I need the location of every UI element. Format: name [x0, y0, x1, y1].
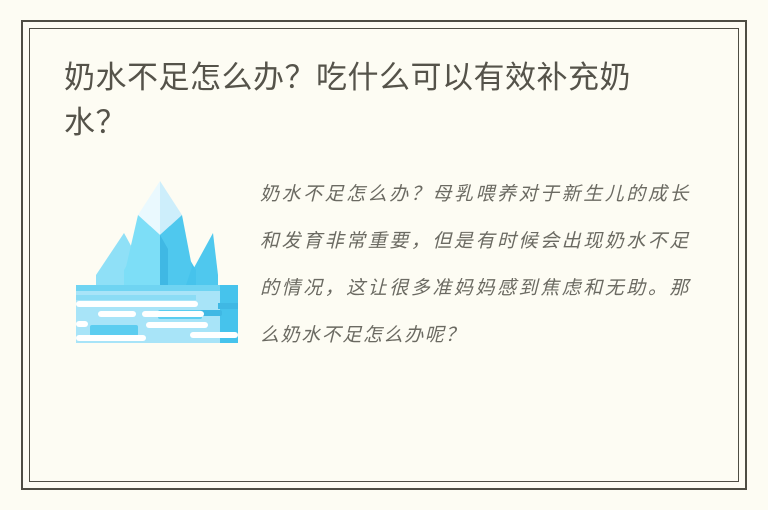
article-content: 奶水不足怎么办？吃什么可以有效补充奶水？: [30, 29, 738, 481]
article-card-outer-frame: 奶水不足怎么办？吃什么可以有效补充奶水？: [21, 20, 747, 490]
article-body-text: 奶水不足怎么办？母乳喂养对于新生儿的成长和发育非常重要，但是有时候会出现奶水不足…: [260, 171, 696, 359]
article-body-row: 奶水不足怎么办？母乳喂养对于新生儿的成长和发育非常重要，但是有时候会出现奶水不足…: [64, 171, 704, 359]
iceberg-illustration: [72, 175, 242, 345]
page-title: 奶水不足怎么办？吃什么可以有效补充奶水？: [64, 55, 664, 145]
article-card-inner-frame: 奶水不足怎么办？吃什么可以有效补充奶水？: [29, 28, 739, 482]
